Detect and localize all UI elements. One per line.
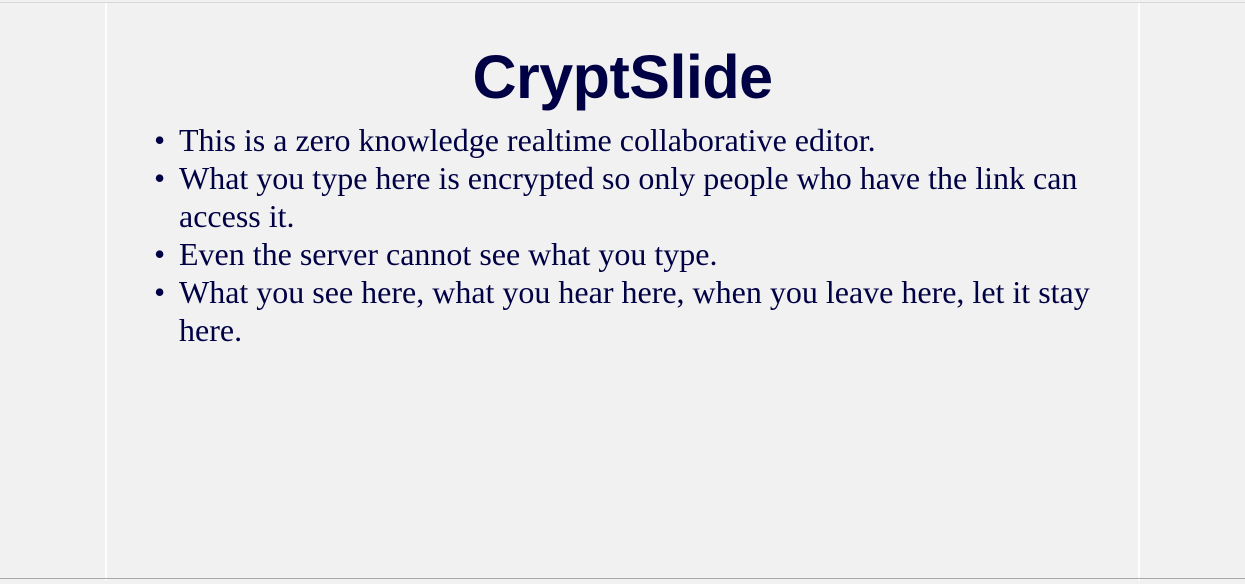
bullet-dot-icon: • xyxy=(154,235,179,273)
bullet-dot-icon: • xyxy=(154,159,179,197)
slide-title[interactable]: CryptSlide xyxy=(107,47,1138,108)
slide-canvas[interactable]: CryptSlide • This is a zero knowledge re… xyxy=(105,3,1140,581)
bullet-text[interactable]: What you type here is encrypted so only … xyxy=(179,159,1109,235)
bullet-text[interactable]: Even the server cannot see what you type… xyxy=(179,235,1109,273)
bullet-text[interactable]: What you see here, what you hear here, w… xyxy=(179,273,1109,349)
bullet-dot-icon: • xyxy=(154,121,179,159)
bottom-divider-rule xyxy=(0,578,1245,579)
slide-bullet-list[interactable]: • This is a zero knowledge realtime coll… xyxy=(107,121,1138,349)
bullet-dot-icon: • xyxy=(154,273,179,311)
bullet-text[interactable]: This is a zero knowledge realtime collab… xyxy=(179,121,1109,159)
bullet-item[interactable]: • This is a zero knowledge realtime coll… xyxy=(154,121,1109,159)
bullet-item[interactable]: • Even the server cannot see what you ty… xyxy=(154,235,1109,273)
bullet-item[interactable]: • What you see here, what you hear here,… xyxy=(154,273,1109,349)
bullet-item[interactable]: • What you type here is encrypted so onl… xyxy=(154,159,1109,235)
